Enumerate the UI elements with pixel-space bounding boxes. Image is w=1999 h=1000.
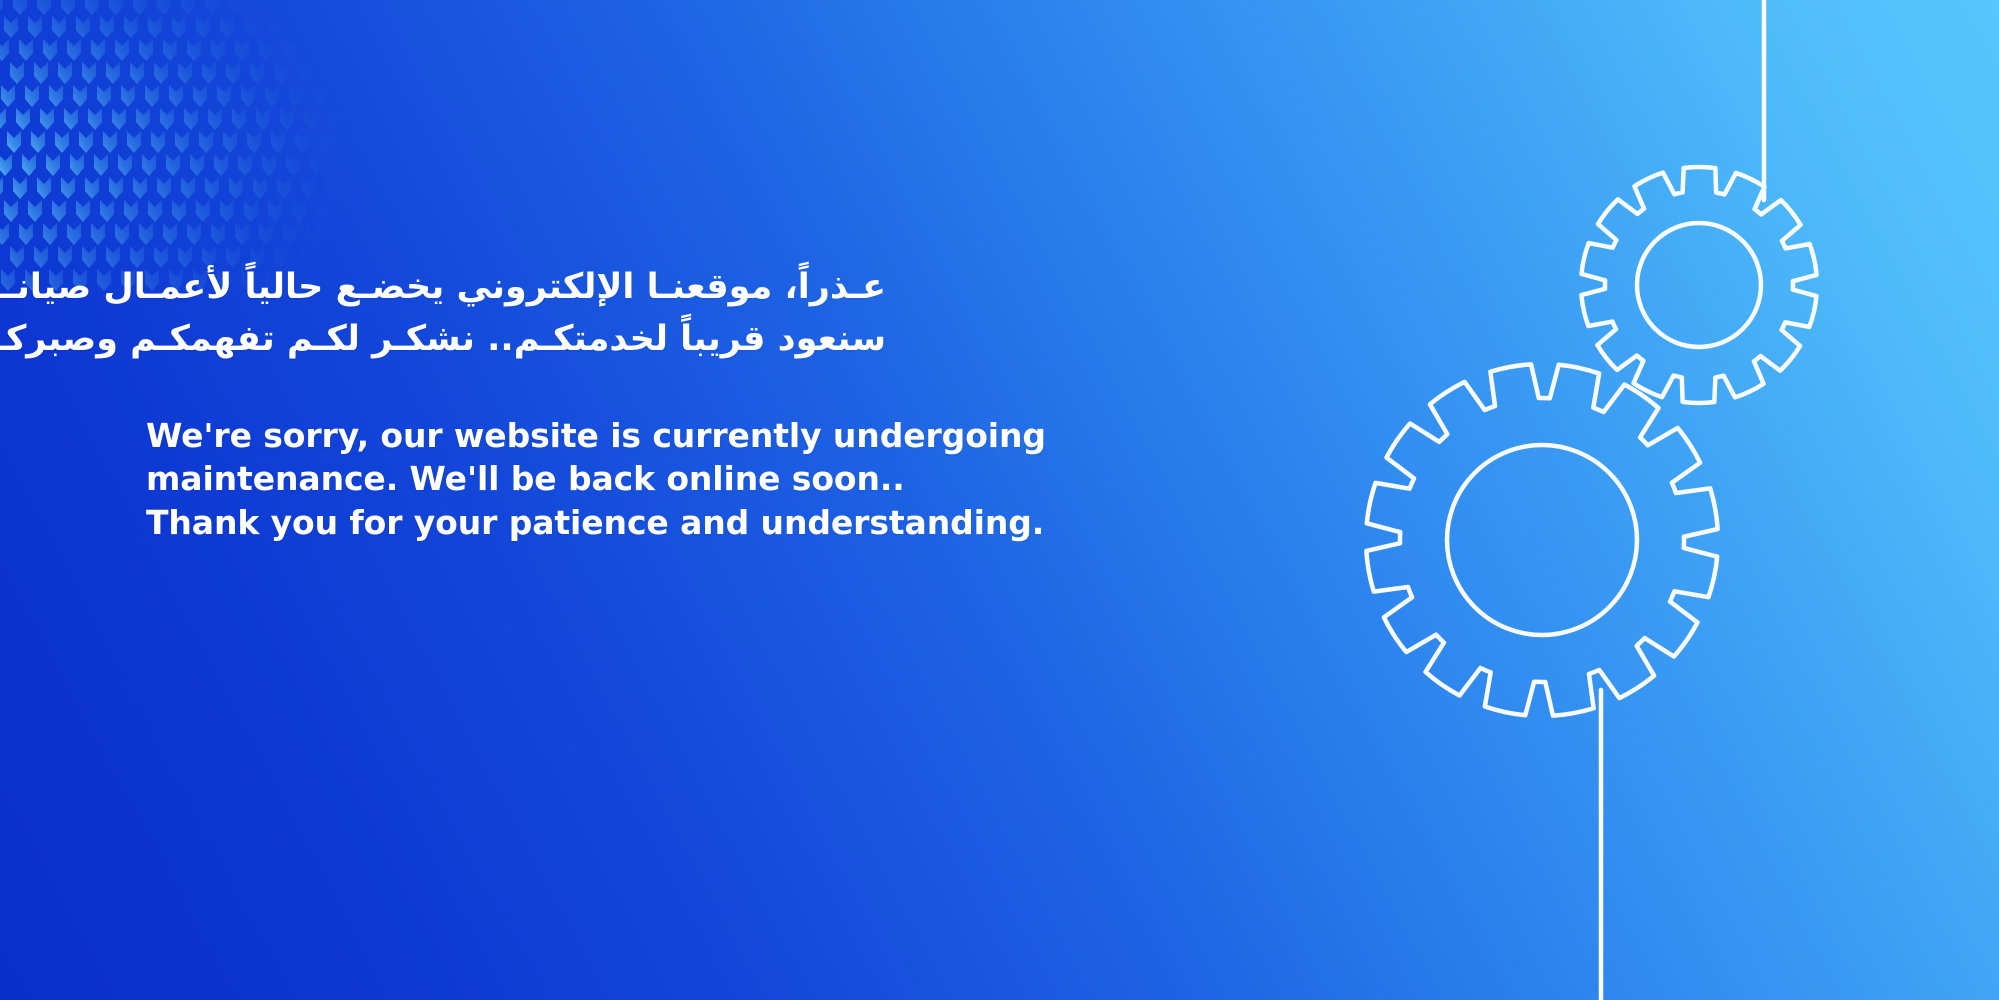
english-line-1: We're sorry, our website is currently un… <box>146 414 1046 458</box>
gear-illustration <box>1179 0 1999 1000</box>
english-line-3: Thank you for your patience and understa… <box>146 501 1046 545</box>
arabic-message: عـذراً، موقعنـا الإلكتروني يخضـع حالياً … <box>146 262 886 366</box>
english-line-2: maintenance. We'll be back online soon.. <box>146 457 1046 501</box>
maintenance-message: عـذراً، موقعنـا الإلكتروني يخضـع حالياً … <box>146 262 1046 544</box>
english-message: We're sorry, our website is currently un… <box>146 414 1046 545</box>
arabic-line-2: سنعود قريباً لخدمتكـم.. نشكـر لكـم تفهمك… <box>146 314 886 366</box>
arabic-line-1: عـذراً، موقعنـا الإلكتروني يخضـع حالياً … <box>146 262 886 314</box>
gear-small <box>1581 167 1816 403</box>
gear-large <box>1366 364 1717 715</box>
maintenance-page: عـذراً، موقعنـا الإلكتروني يخضـع حالياً … <box>0 0 1999 1000</box>
